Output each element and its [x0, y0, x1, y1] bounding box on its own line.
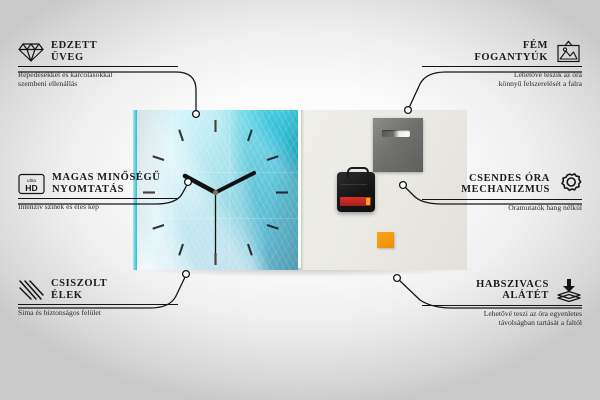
- feature-title-line2: MECHANIZMUS: [461, 184, 550, 196]
- feature-desc-line1: Lehetővé teszi az óra egyenletes: [422, 309, 582, 318]
- connector-dot: [394, 275, 401, 282]
- connector-dot: [405, 107, 412, 114]
- feature-metal-handles[interactable]: FÉM FOGANTYÚK Lehetővé teszik az óra kön…: [422, 40, 582, 89]
- feature-divider: [18, 66, 178, 67]
- feature-divider: [18, 198, 178, 199]
- picture-hanger-icon: [555, 40, 582, 63]
- feature-title-line1: FÉM: [474, 40, 548, 52]
- gear-icon: [557, 172, 582, 196]
- press-pad-icon: [556, 278, 582, 302]
- feature-divider: [422, 305, 582, 306]
- feature-desc-line2: távolságban tartását a faltól: [422, 318, 582, 327]
- connector-dot: [193, 111, 200, 118]
- feature-polished-edges[interactable]: CSISZOLT ÉLEK Sima és biztonságos felüle…: [18, 278, 178, 317]
- svg-text:HD: HD: [25, 183, 37, 193]
- feature-desc-line1: Sima és biztonságos felület: [18, 308, 178, 317]
- feature-divider: [422, 66, 582, 67]
- feature-title-line1: HABSZIVACS: [476, 279, 549, 291]
- feature-tempered-glass[interactable]: EDZETT ÜVEG Repedésekkel és karcolásokka…: [18, 40, 178, 89]
- feature-desc-line1: Repedésekkel és karcolásokkal: [18, 70, 178, 79]
- feature-foam-pad[interactable]: HABSZIVACS ALÁTÉT Lehetővé teszi az óra …: [422, 278, 582, 328]
- feature-desc-line1: Óramutatók hang nélkül: [422, 203, 582, 212]
- feature-divider: [422, 199, 582, 200]
- feature-title-line2: ÉLEK: [51, 290, 107, 302]
- feature-title-line2: NYOMTATÁS: [52, 184, 160, 196]
- feature-title-line2: FOGANTYÚK: [474, 52, 548, 64]
- feature-quiet-mechanism[interactable]: CSENDES ÓRA MECHANIZMUS Óramutatók hang …: [422, 172, 582, 212]
- feature-desc-line2: szembeni ellenállás: [18, 79, 178, 88]
- connector-dot: [183, 271, 190, 278]
- connector-dot: [185, 179, 192, 186]
- feature-high-quality-print[interactable]: ultra HD MAGAS MINŐSÉGŰ NYOMTATÁS Intenz…: [18, 172, 178, 211]
- feature-desc-line1: Intenzív színek és éles kép: [18, 202, 178, 211]
- feature-desc-line1: Lehetővé teszik az óra: [422, 70, 582, 79]
- ultra-hd-badge-icon: ultra HD: [18, 173, 45, 195]
- feature-desc-line2: könnyű felszerelését a falra: [422, 79, 582, 88]
- feature-title-line2: ÜVEG: [51, 52, 97, 64]
- feature-title-line1: MAGAS MINŐSÉGŰ: [52, 172, 160, 184]
- feature-title-line1: CSISZOLT: [51, 278, 107, 290]
- infographic-canvas: EDZETT ÜVEG Repedésekkel és karcolásokka…: [0, 0, 600, 400]
- connector-dot: [400, 182, 407, 189]
- feature-title-line1: EDZETT: [51, 40, 97, 52]
- feature-title-line2: ALÁTÉT: [476, 290, 549, 302]
- diamond-icon: [18, 41, 44, 63]
- feature-divider: [18, 304, 178, 305]
- feature-title-line1: CSENDES ÓRA: [461, 173, 550, 185]
- beveled-edge-icon: [18, 279, 44, 301]
